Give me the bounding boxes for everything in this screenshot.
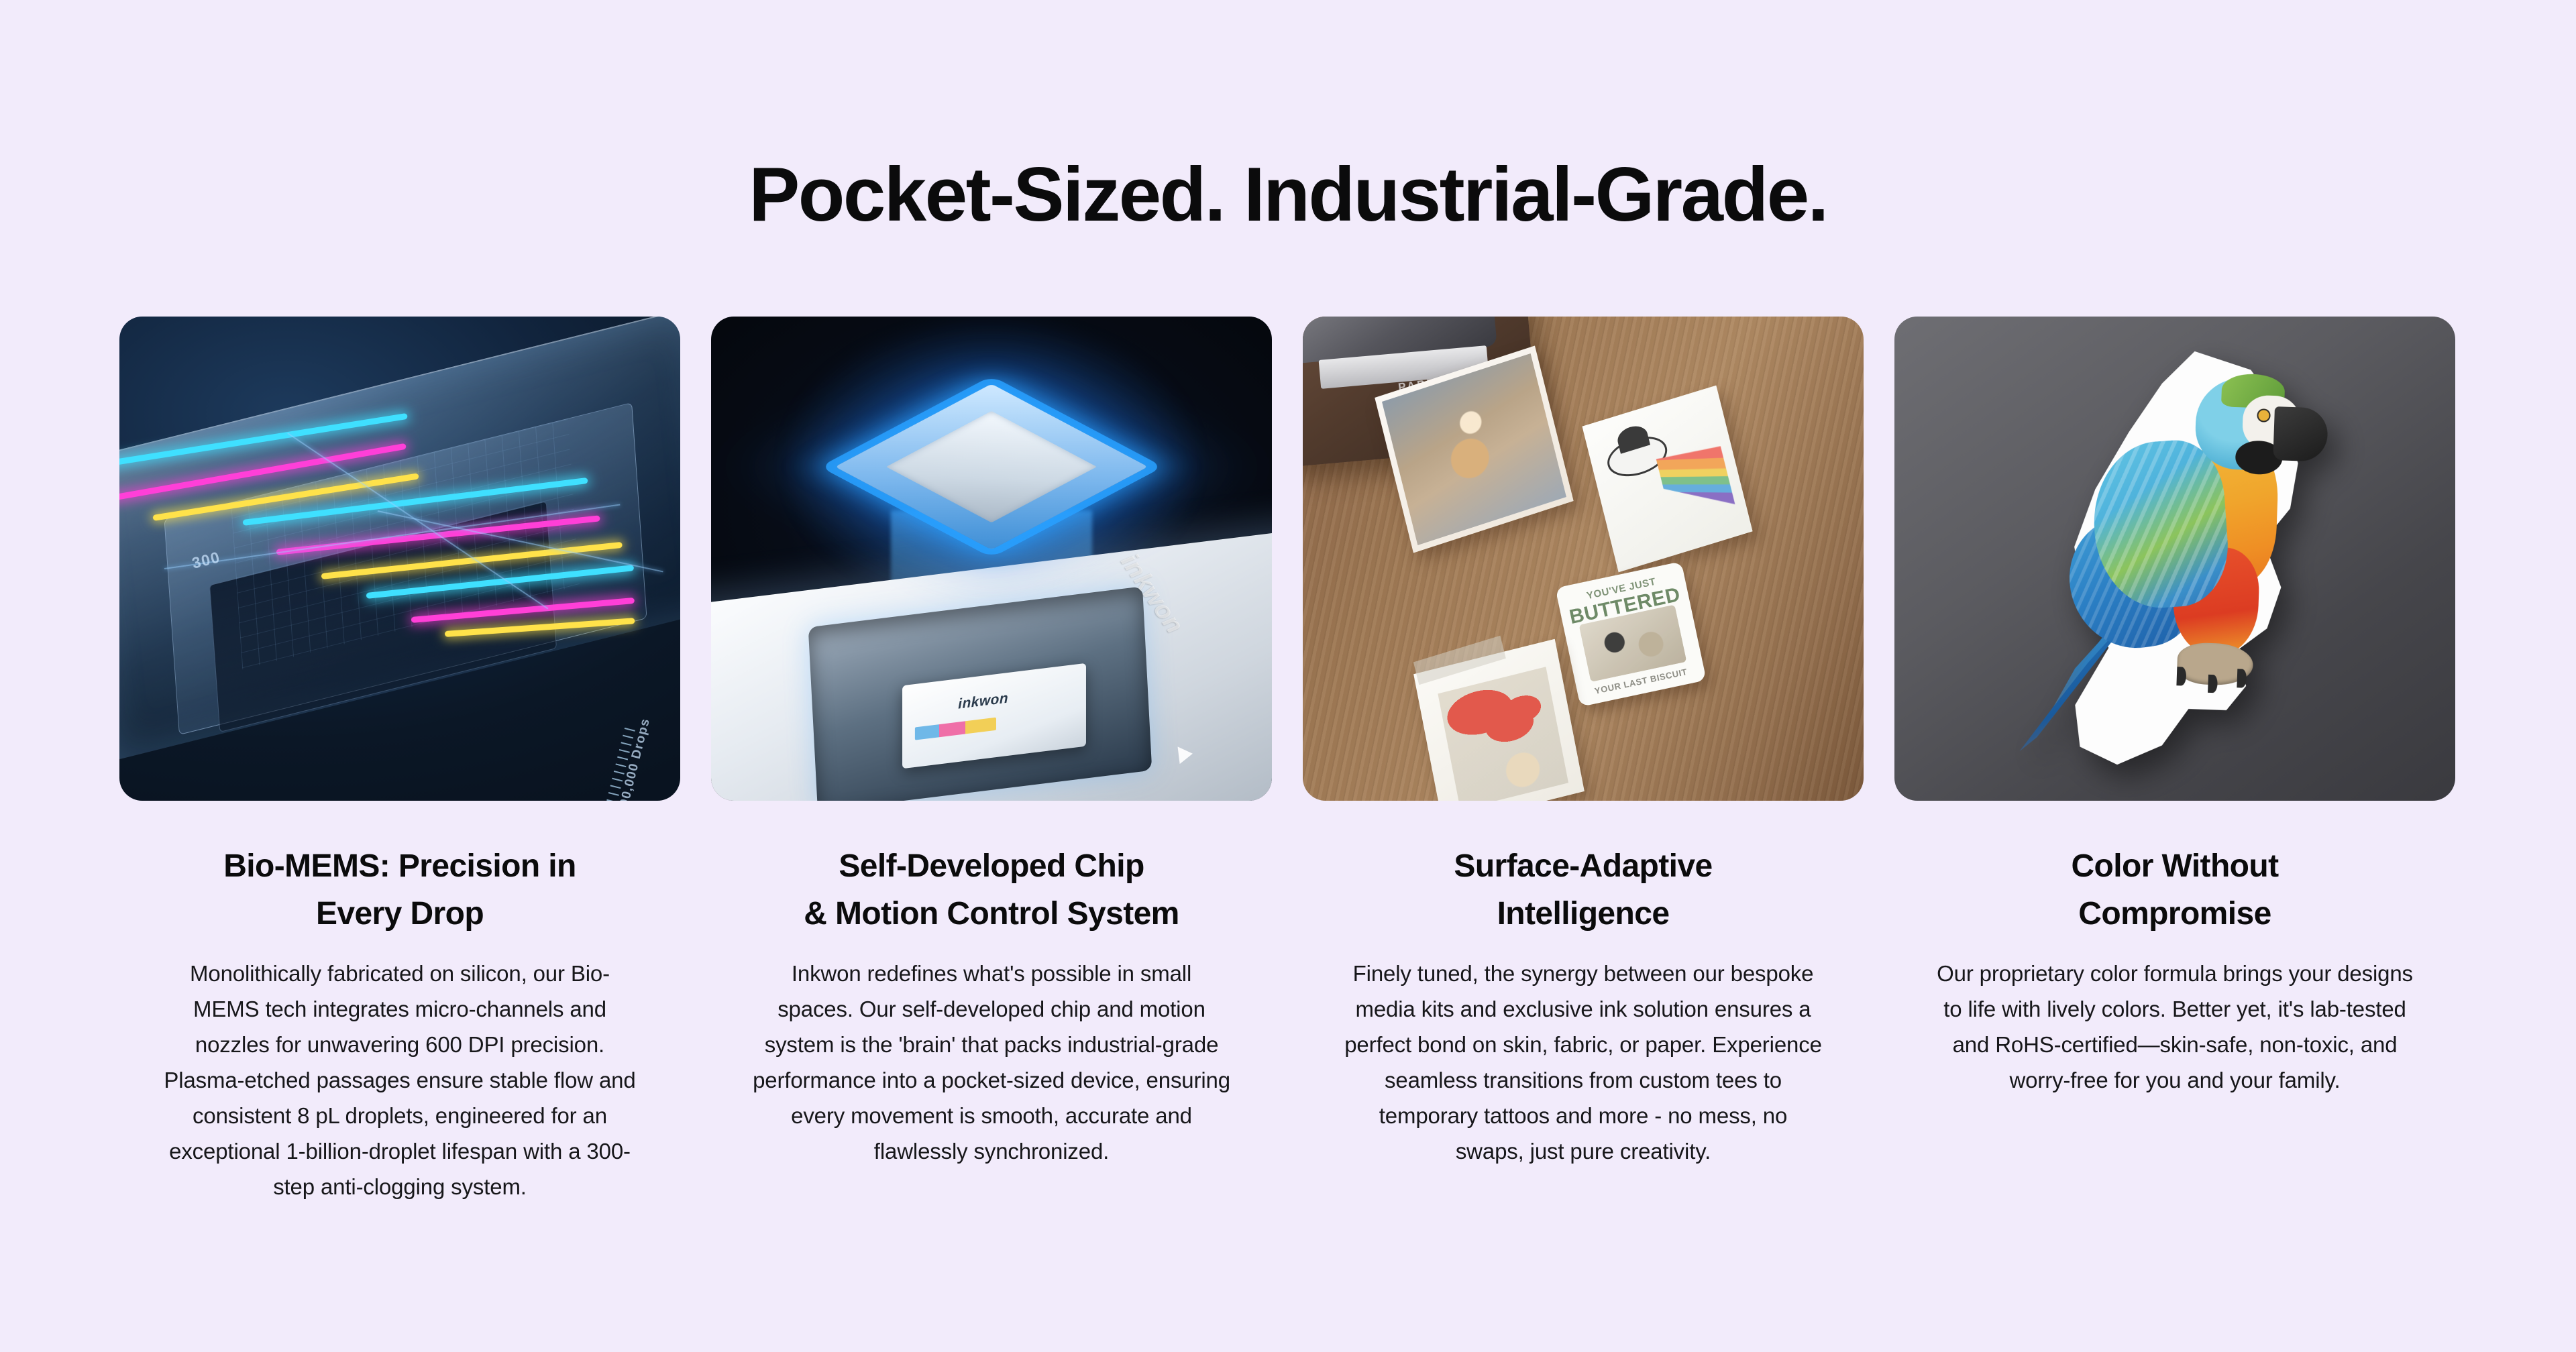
card-body-surface-adaptive: Finely tuned, the synergy between our be… (1343, 956, 1823, 1169)
eject-arrow-icon (1177, 745, 1193, 764)
macaw-illustration (2010, 345, 2339, 772)
card-heading-color-without-compromise: Color Without Compromise (1913, 842, 2436, 938)
die-cut-sticker (2010, 345, 2339, 772)
feature-section: Pocket-Sized. Industrial-Grade. (0, 0, 2576, 1352)
macaw-beak (2273, 406, 2328, 462)
card-heading-surface-adaptive: Surface-Adaptive Intelligence (1322, 842, 1845, 938)
card-body-bio-mems: Monolithically fabricated on silicon, ou… (160, 956, 640, 1204)
card-image-desk-with-prints: PAPER IN YOU'VE JUST BUTTERED YOUR LAST … (1303, 317, 1864, 801)
feature-card-surface-adaptive: PAPER IN YOU'VE JUST BUTTERED YOUR LAST … (1303, 317, 1864, 1204)
card-image-chip-and-printer: inkwon inkwon (711, 317, 1272, 801)
mushroom-tattoo-print (1413, 639, 1585, 801)
cmy-color-strip (915, 718, 996, 741)
ufo-rainbow-print (1582, 386, 1752, 573)
feature-card-bio-mems: 000,000 Drops 300 Bio-MEMS: Precision in… (119, 317, 680, 1204)
page-title: Pocket-Sized. Industrial-Grade. (0, 153, 2576, 237)
card-body-self-developed-chip: Inkwon redefines what's possible in smal… (751, 956, 1232, 1169)
card-body-color-without-compromise: Our proprietary color formula brings you… (1935, 956, 2415, 1098)
card-image-macaw-sticker (1894, 317, 2455, 801)
mushroom-artwork (1438, 667, 1568, 801)
macaw-claw-3 (2237, 669, 2247, 688)
feature-card-color-without-compromise: Color Without Compromise Our proprietary… (1894, 317, 2455, 1204)
macaw-claw-1 (2177, 667, 2187, 685)
card-heading-self-developed-chip: Self-Developed Chip & Motion Control Sys… (730, 842, 1253, 938)
card-image-bio-mems-printhead: 000,000 Drops 300 (119, 317, 680, 801)
feature-card-grid: 000,000 Drops 300 Bio-MEMS: Precision in… (119, 317, 2457, 1204)
tattoo-backing-film (1413, 636, 1506, 685)
cowboy-cat-sticker: YOU'VE JUST BUTTERED YOUR LAST BISCUIT (1555, 561, 1707, 707)
feature-card-self-developed-chip: inkwon inkwon Self-Developed Chip & Moti… (711, 317, 1272, 1204)
card-heading-bio-mems: Bio-MEMS: Precision in Every Drop (138, 842, 661, 938)
